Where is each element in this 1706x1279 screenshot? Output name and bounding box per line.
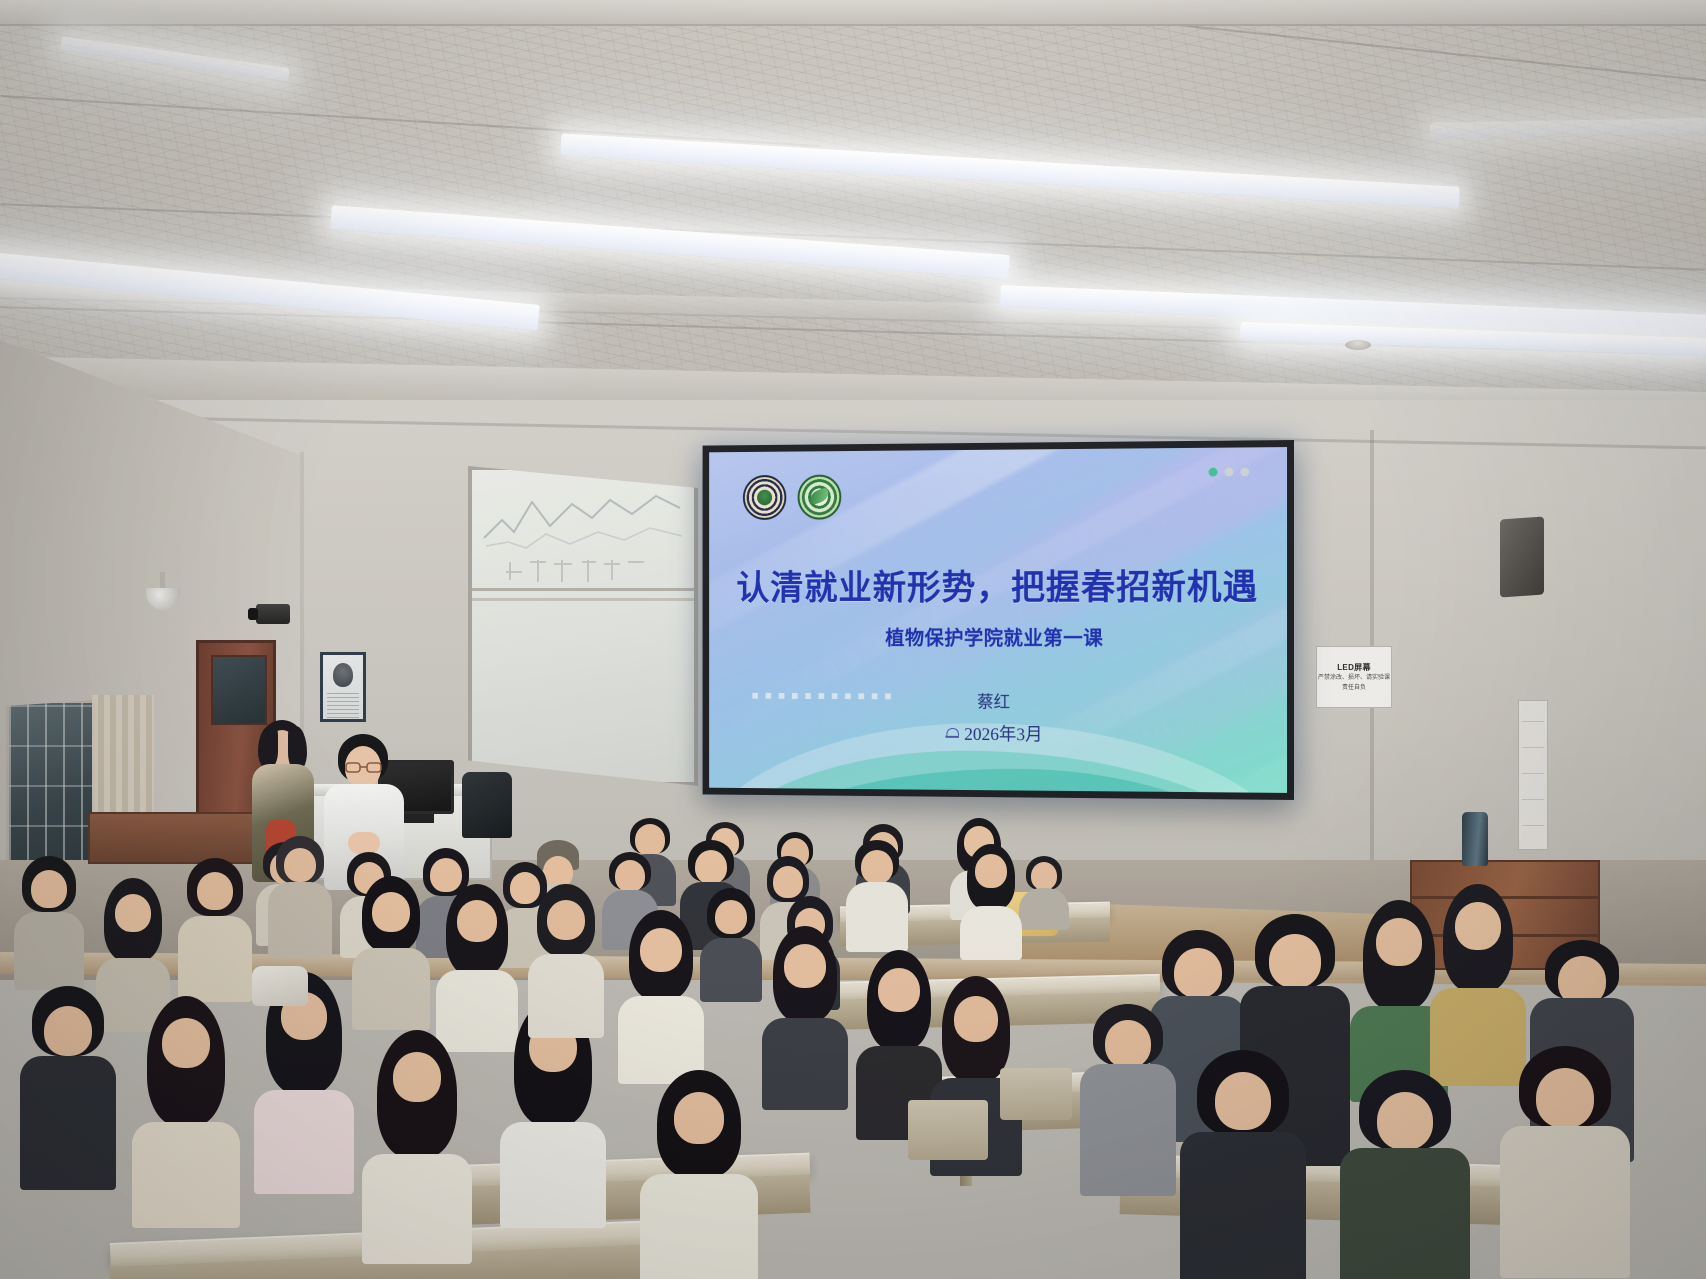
slide-dot-green — [1209, 468, 1218, 477]
student — [1180, 1050, 1306, 1279]
slide-dot-grey — [1224, 467, 1233, 476]
student-head — [773, 866, 803, 898]
student-head — [861, 850, 893, 884]
student-head — [547, 900, 585, 940]
student-torso — [1340, 1148, 1470, 1279]
student — [352, 876, 430, 1026]
student-head — [715, 900, 747, 934]
student-head — [1031, 862, 1057, 890]
slide-date: 2026年3月 — [964, 720, 1042, 746]
student-head — [1105, 1020, 1151, 1068]
student-head — [1376, 918, 1422, 966]
seat-back — [908, 1100, 988, 1160]
led-sign-line2: 严禁涂改、损坏、请实验课 — [1318, 675, 1390, 683]
student-head — [115, 894, 151, 932]
slide-text-block: 认清就业新形势，把握春招新机遇 植物保护学院就业第一课 蔡红 2026年3月 — [709, 559, 1287, 748]
presenter-hair-side — [258, 726, 278, 768]
slide-subtitle: 植物保护学院就业第一课 — [709, 622, 1287, 651]
student — [618, 910, 704, 1080]
student-head — [284, 848, 316, 882]
student-head — [674, 1092, 724, 1144]
student-head — [393, 1052, 441, 1102]
student-torso — [1080, 1064, 1176, 1196]
student — [640, 1070, 758, 1279]
slide-canvas: 认清就业新形势，把握春招新机遇 植物保护学院就业第一课 蔡红 2026年3月 — [709, 447, 1287, 793]
plant-protection-college-logo — [798, 475, 842, 520]
student-torso — [1019, 888, 1069, 930]
student — [1018, 856, 1070, 926]
student-head — [457, 900, 497, 942]
student-head — [31, 870, 67, 908]
student-torso — [352, 948, 430, 1030]
student-torso — [846, 882, 908, 952]
student-torso — [960, 906, 1022, 960]
student-head — [162, 1018, 210, 1068]
led-sign-line3: 责任自负 — [1342, 685, 1366, 693]
student-head — [372, 892, 410, 932]
student-head — [954, 996, 998, 1042]
camera-lens-icon — [248, 608, 258, 620]
smoke-detector-icon — [1345, 340, 1371, 350]
student-head — [784, 944, 826, 988]
framed-portrait-poster — [320, 652, 366, 722]
student — [762, 926, 848, 1106]
student — [14, 856, 84, 986]
student-torso — [762, 1018, 848, 1110]
slide-author: 蔡红 — [709, 687, 1287, 714]
student-torso — [268, 882, 332, 958]
audience-area — [0, 800, 1706, 1279]
student-torso — [1500, 1126, 1630, 1278]
student-head — [44, 1006, 92, 1056]
student — [1080, 1004, 1176, 1194]
portrait-caption-lines — [327, 693, 359, 721]
student-head — [640, 928, 682, 972]
student-head — [1536, 1068, 1594, 1128]
student — [132, 996, 240, 1226]
student-torso — [528, 954, 604, 1038]
wall-speaker-icon — [1500, 516, 1544, 597]
whiteboard-text-scrawl — [500, 552, 650, 582]
student-head — [615, 860, 645, 892]
wall-seam — [1370, 430, 1374, 860]
slide-dots — [1209, 467, 1250, 476]
student-torso — [1180, 1132, 1306, 1279]
slide-title: 认清就业新形势，把握春招新机遇 — [709, 559, 1287, 610]
backpack — [252, 966, 308, 1006]
ceiling-soffit-top — [0, 0, 1706, 26]
wall-camera-icon — [256, 604, 290, 624]
student-head — [1377, 1092, 1433, 1150]
university-emblem-logo — [743, 475, 786, 520]
student — [20, 986, 116, 1186]
student-torso — [640, 1174, 758, 1279]
glasses-icon — [344, 760, 384, 774]
student-torso — [500, 1122, 606, 1228]
student-torso — [254, 1090, 354, 1194]
student-head — [1269, 934, 1321, 988]
student-head — [1455, 902, 1501, 950]
student-torso — [362, 1154, 472, 1264]
seat-back — [1000, 1068, 1072, 1120]
student — [1340, 1070, 1470, 1279]
whiteboard — [468, 466, 698, 786]
portrait-head — [333, 663, 353, 687]
student-head — [878, 968, 920, 1012]
student — [1500, 1046, 1630, 1276]
student-torso — [132, 1122, 240, 1228]
student — [362, 1030, 472, 1260]
led-screen-warning-sign: LED屏幕 严禁涂改、损坏、请实验课 责任自负 — [1316, 646, 1392, 708]
student — [268, 836, 332, 956]
student — [178, 858, 252, 998]
whiteboard-divider — [472, 598, 694, 601]
student — [700, 888, 762, 998]
student — [960, 844, 1022, 956]
student — [528, 884, 604, 1034]
slide-dot-grey — [1240, 467, 1249, 476]
student-torso — [14, 912, 84, 990]
student — [846, 840, 908, 950]
slide-logos — [743, 475, 841, 520]
bell-icon — [945, 726, 958, 740]
led-presentation-screen[interactable]: 认清就业新形势，把握春招新机遇 植物保护学院就业第一课 蔡红 2026年3月 — [703, 440, 1294, 800]
led-sign-title: LED屏幕 — [1337, 662, 1371, 673]
student-torso — [20, 1056, 116, 1190]
lecture-hall-scene: LED屏幕 严禁涂改、损坏、请实验课 责任自负 — [0, 0, 1706, 1279]
student-head — [1174, 948, 1222, 998]
student-head — [695, 850, 727, 884]
student-head — [197, 872, 233, 910]
whiteboard-divider — [472, 588, 694, 591]
student-head — [1215, 1072, 1271, 1130]
door-window — [211, 655, 267, 725]
student-head — [975, 854, 1007, 888]
student-torso — [178, 916, 252, 1002]
student-torso — [700, 938, 762, 1002]
slide-date-row: 2026年3月 — [709, 719, 1287, 748]
